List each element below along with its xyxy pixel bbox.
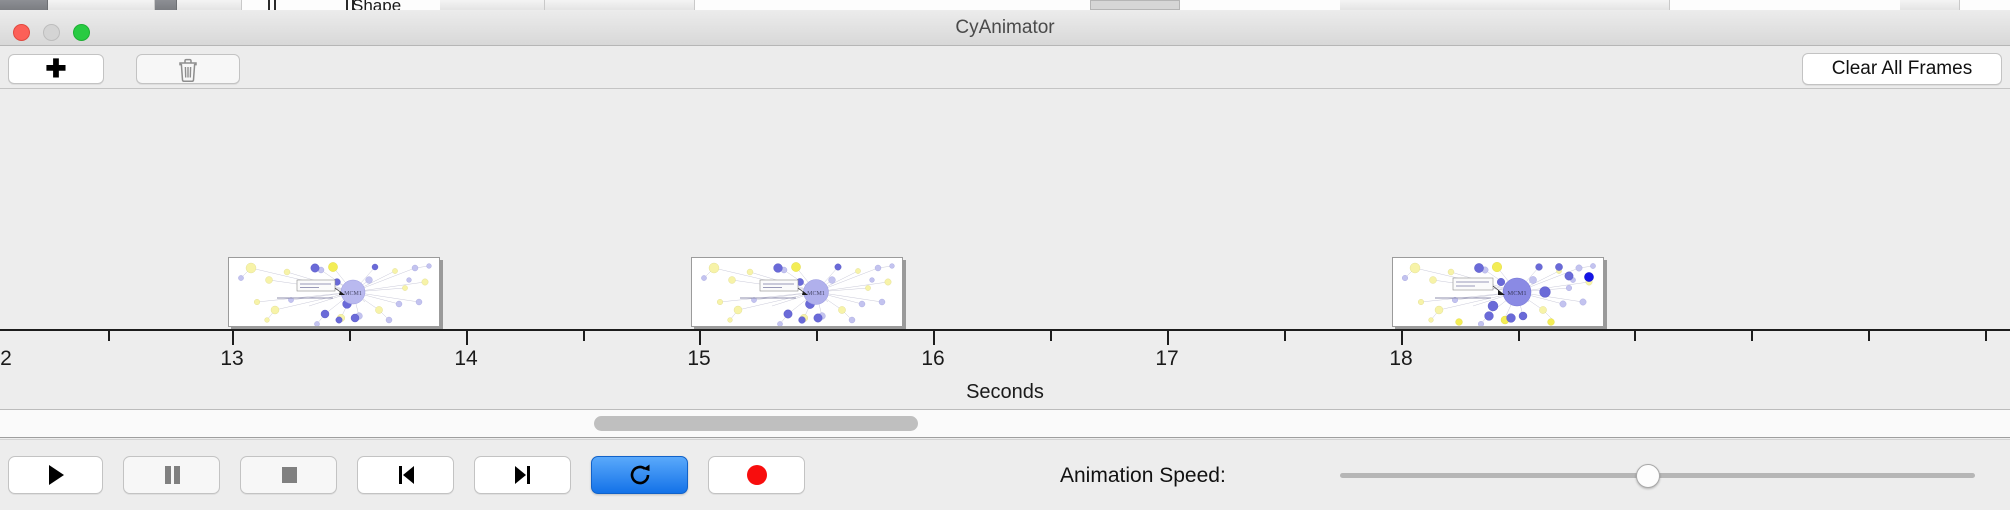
axis-major-tick [1167,331,1169,345]
play-button[interactable] [8,456,103,494]
skip-end-button[interactable] [474,456,571,494]
title-bar: CyAnimator [0,10,2010,46]
frame-toolbar: ✚ Clear All Frames [0,46,2010,89]
axis-major-tick [699,331,701,345]
background-app-label: Shape [352,0,401,10]
loop-button[interactable] [591,456,688,494]
axis-minor-tick [583,331,585,341]
trash-icon [177,57,199,82]
network-thumbnail-graphic: MCM1 [1393,258,1604,327]
loop-icon [628,463,652,487]
delete-frame-button[interactable] [136,54,240,84]
timeline-scrollbar[interactable] [0,410,2010,438]
network-thumbnail-graphic: MCM1 [692,258,903,327]
axis-minor-tick [108,331,110,341]
skip-start-button[interactable] [357,456,454,494]
axis-minor-tick [816,331,818,341]
pause-button[interactable] [123,456,220,494]
play-icon [46,464,66,486]
axis-minor-tick [1985,331,1987,341]
axis-minor-tick [1284,331,1286,341]
axis-minor-tick [1050,331,1052,341]
axis-minor-tick [1634,331,1636,341]
axis-minor-tick [1518,331,1520,341]
add-frame-button[interactable]: ✚ [8,54,104,84]
skip-forward-icon [513,464,533,486]
cyanimator-window: Shape CyAnimator ✚ [0,0,2010,510]
axis-tick-label: 18 [1389,347,1412,371]
animation-speed-label: Animation Speed: [1060,464,1226,488]
frame-thumbnail-3[interactable]: MCM1 [1392,257,1604,327]
axis-tick-label: 17 [1155,347,1178,371]
frame-thumbnail-1[interactable]: MCM1 [228,257,440,327]
background-window-strip: Shape [0,0,2010,10]
skip-back-icon [396,464,416,486]
axis-tick-label: 2 [0,347,12,371]
axis-major-tick [933,331,935,345]
timeline-scrollbar-thumb[interactable] [594,416,918,431]
stop-icon [279,464,299,486]
background-scrollbar [1090,0,1180,10]
axis-minor-tick [1868,331,1870,341]
axis-major-tick [232,331,234,345]
frame-network-label: MCM1 [1507,290,1526,297]
axis-major-tick [466,331,468,345]
clear-all-frames-label: Clear All Frames [1832,58,1972,80]
axis-tick-label: 14 [454,347,477,371]
frame-network-label: MCM1 [807,291,825,297]
record-icon [745,463,769,487]
plus-icon: ✚ [46,57,67,82]
axis-tick-label: 15 [687,347,710,371]
axis-minor-tick [1751,331,1753,341]
axis-caption: Seconds [0,381,2010,404]
frame-thumbnail-2[interactable]: MCM1 [691,257,903,327]
axis-minor-tick [349,331,351,341]
axis-tick-label: 13 [220,347,243,371]
timeline-panel[interactable]: MCM1 [0,89,2010,410]
clear-all-frames-button[interactable]: Clear All Frames [1802,53,2002,85]
transport-bar: Animation Speed: [0,439,2010,510]
axis-major-tick [1401,331,1403,345]
record-button[interactable] [708,456,805,494]
pause-icon [162,464,182,486]
axis-tick-label: 16 [921,347,944,371]
animation-speed-slider-thumb[interactable] [1636,464,1660,488]
network-thumbnail-graphic: MCM1 [229,258,440,327]
stop-button[interactable] [240,456,337,494]
frame-network-label: MCM1 [344,291,362,297]
timeline-axis [0,329,2010,331]
window-title: CyAnimator [0,17,2010,39]
